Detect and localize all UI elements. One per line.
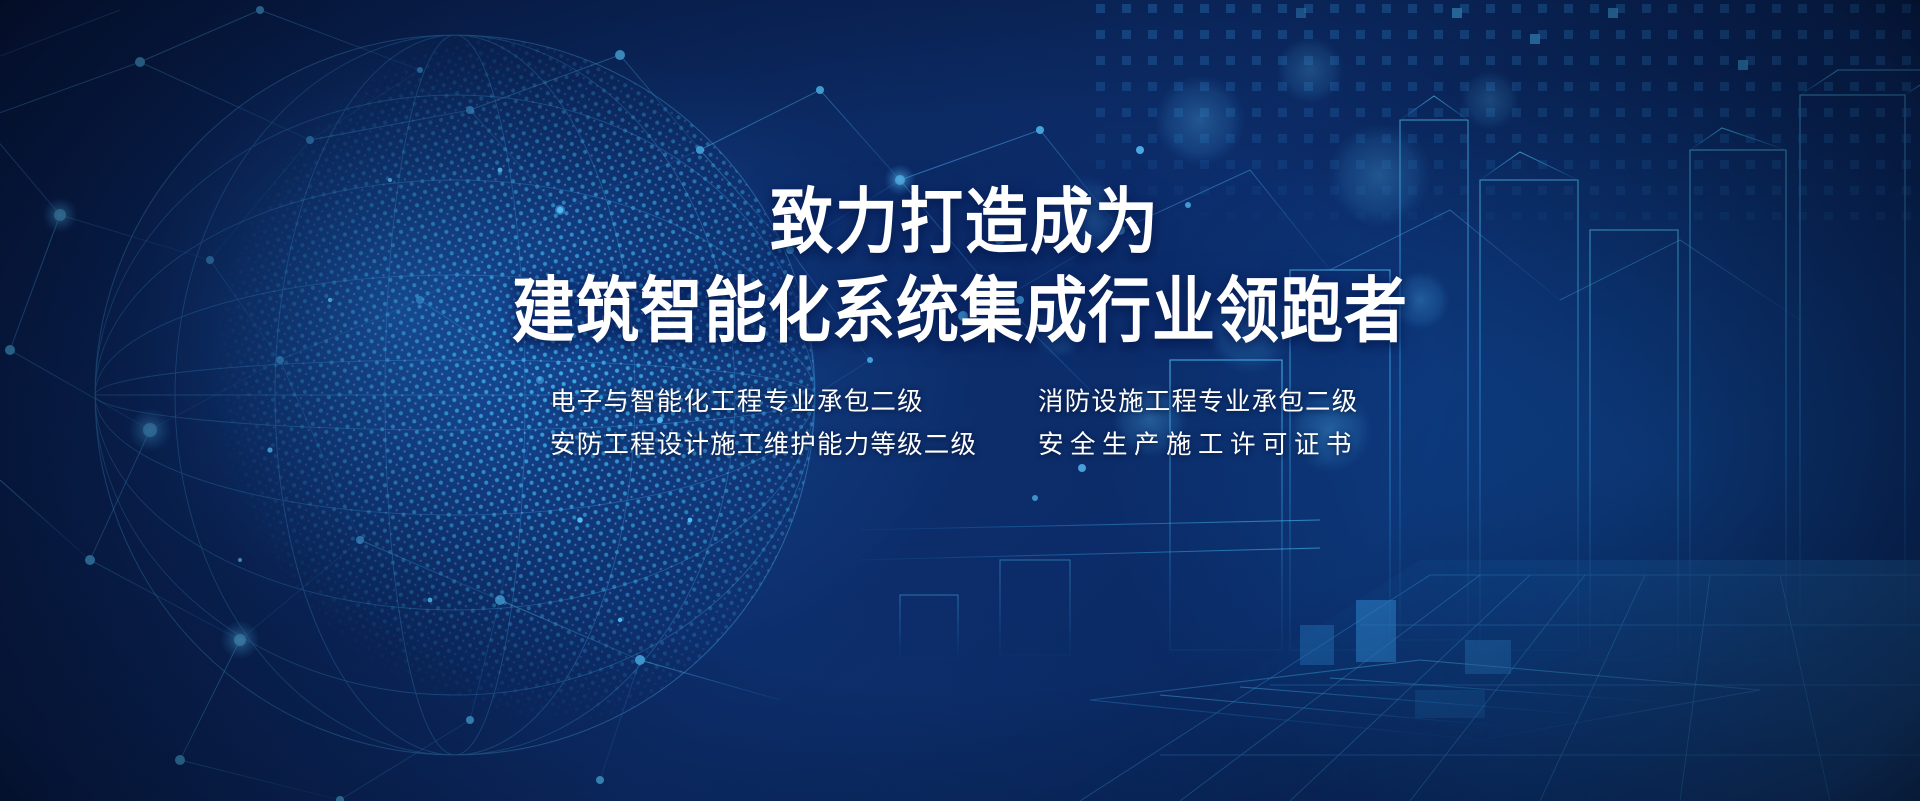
qualification-row: 安防工程设计施工维护能力等级二级 安全生产施工许可证书 <box>540 429 1380 462</box>
qualification-item-2: 消防设施工程专业承包二级 <box>1010 386 1380 419</box>
headline-line-1: 致力打造成为 <box>10 186 1920 258</box>
qualification-item-4: 安全生产施工许可证书 <box>1010 429 1380 462</box>
hero-text-block: 致力打造成为 建筑智能化系统集成行业领跑者 电子与智能化工程专业承包二级 消防设… <box>0 186 1920 461</box>
hero-banner: 致力打造成为 建筑智能化系统集成行业领跑者 电子与智能化工程专业承包二级 消防设… <box>0 0 1920 801</box>
qualification-row: 电子与智能化工程专业承包二级 消防设施工程专业承包二级 <box>540 386 1380 419</box>
qualification-list: 电子与智能化工程专业承包二级 消防设施工程专业承包二级 安防工程设计施工维护能力… <box>0 386 1920 461</box>
headline-line-2: 建筑智能化系统集成行业领跑者 <box>0 275 1920 347</box>
qualification-item-3: 安防工程设计施工维护能力等级二级 <box>540 429 1010 462</box>
qualification-item-1: 电子与智能化工程专业承包二级 <box>540 386 1010 419</box>
